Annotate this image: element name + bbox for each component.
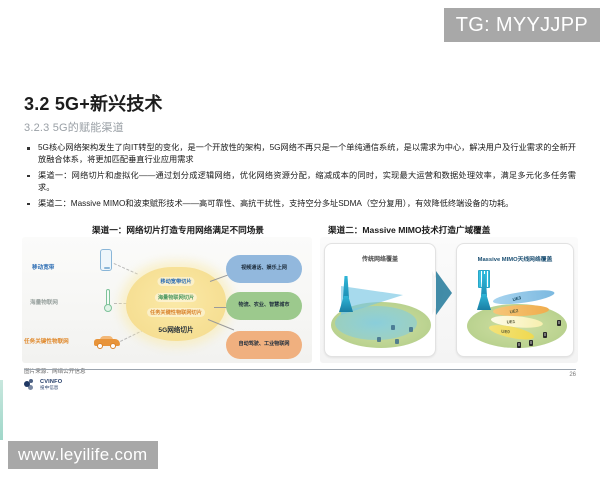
slice-label-critical-iot: 任务关键性物联网切片 [147, 308, 205, 317]
diagram-caption-right: 渠道二：Massive MIMO技术打造广域覆盖 [328, 224, 490, 236]
beam-label-ue3: UE3 [512, 295, 522, 302]
connector-dashed [120, 330, 144, 342]
beam-label-ue0: UE0 [502, 328, 511, 334]
user-device-icon [395, 339, 399, 345]
user-device-icon [391, 325, 395, 331]
input-label-massive-iot: 海量物联网 [30, 298, 58, 306]
user-device-icon [409, 327, 413, 333]
beam-label-ue1: UE1 [506, 319, 515, 324]
input-label-critical-iot: 任务关键性物联网 [24, 337, 69, 345]
watermark-bottom: www.leyilife.com [8, 441, 158, 469]
diagram-caption-left: 渠道一：网络切片打造专用网络满足不同场景 [92, 224, 264, 236]
user-device-icon [543, 332, 547, 338]
panel-title-traditional: 传统网络覆盖 [325, 254, 435, 263]
cvinfo-mark-icon [24, 379, 37, 391]
footer-divider [24, 369, 576, 370]
slide-screenshot: TG: MYYJJPP 3.2 5G+新兴技术 3.2.3 5G的赋能渠道 5G… [0, 0, 600, 480]
network-slicing-diagram: 移动宽带 海量物联网 任务关键性物联网 移动宽带切片 海量物联网切片 任务关键性… [22, 237, 312, 363]
user-device-icon [557, 320, 561, 326]
core-title: 5G网络切片 [158, 324, 193, 334]
logo-subtitle: 投中信息 [40, 386, 62, 391]
panel-title-mimo: Massive MIMO天线网络覆盖 [457, 254, 573, 263]
input-label-mobile-broadband: 移动宽带 [32, 263, 54, 271]
panel-traditional-coverage: 传统网络覆盖 [324, 243, 436, 357]
thermometer-icon [104, 289, 112, 315]
mimo-antenna-tower-icon [477, 274, 491, 310]
car-icon [94, 335, 120, 349]
user-device-icon [529, 340, 533, 346]
diagram-area: 移动宽带 海量物联网 任务关键性物联网 移动宽带切片 海量物联网切片 任务关键性… [22, 237, 578, 363]
transition-arrow-icon [436, 271, 452, 315]
slide-left-accent-bar [0, 380, 3, 440]
panel-mimo-coverage: Massive MIMO天线网络覆盖 UE3 UE2 UE1 UE0 [456, 243, 574, 357]
output-cloud-logistics: 物流、农业、智慧城市 [226, 292, 302, 320]
output-cloud-video: 视频通话、娱乐上网 [226, 255, 302, 283]
page-title: 3.2 5G+新兴技术 [24, 90, 163, 116]
page-subtitle: 3.2.3 5G的赋能渠道 [24, 119, 124, 135]
connector-dashed [114, 263, 138, 274]
brand-logo: CVINFO 投中信息 [24, 379, 62, 391]
slice-label-massive-iot: 海量物联网切片 [155, 293, 197, 302]
bullet-item: 渠道一：网络切片和虚拟化——通过划分成逻辑网络，优化网络资源分配，缩减成本的同时… [24, 170, 576, 195]
beam-label-ue2: UE2 [510, 308, 519, 314]
bullet-item: 渠道二：Massive MIMO和波束赋形技术——高可靠性、高抗干扰性，支持空分… [24, 198, 576, 210]
page-number: 26 [569, 372, 576, 378]
output-cloud-autodrive: 自动驾驶、工业物联网 [226, 331, 302, 359]
bullet-list: 5G核心网络架构发生了向IT转型的变化，是一个开放性的架构，5G网络不再只是一个… [24, 142, 576, 213]
presentation-slide: 3.2 5G+新兴技术 3.2.3 5G的赋能渠道 5G核心网络架构发生了向IT… [0, 70, 600, 410]
smartphone-icon [100, 249, 112, 271]
slice-label-mobile-broadband: 移动宽带切片 [157, 277, 194, 286]
massive-mimo-diagram: 传统网络覆盖 Massive MIMO天线网络覆盖 [320, 237, 578, 363]
user-device-icon [517, 342, 521, 348]
cell-tower-icon [339, 276, 353, 312]
user-device-icon [377, 337, 381, 343]
bullet-item: 5G核心网络架构发生了向IT转型的变化，是一个开放性的架构，5G网络不再只是一个… [24, 142, 576, 167]
watermark-top: TG: MYYJJPP [444, 8, 600, 42]
